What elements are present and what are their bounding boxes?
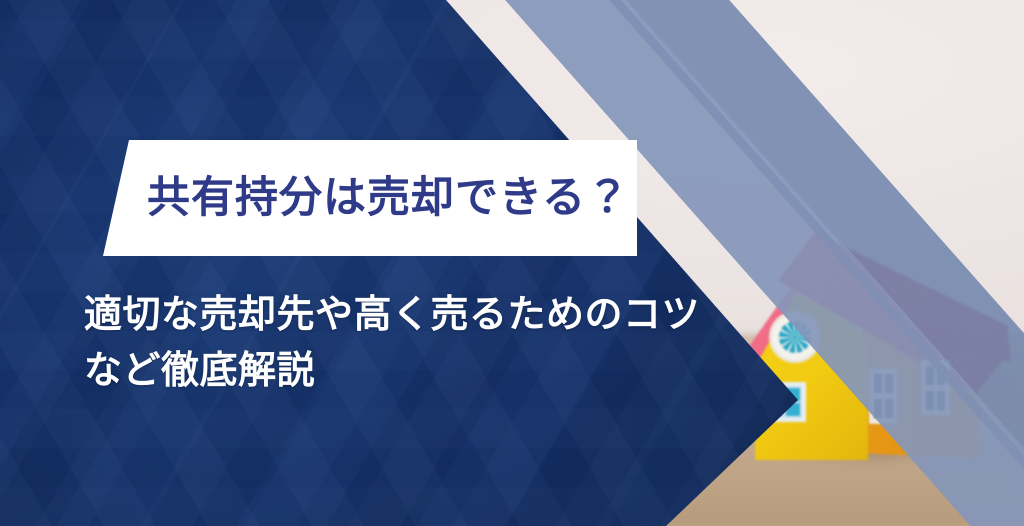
subtitle-line-1: 適切な売却先や高く売るためのコツ <box>84 286 844 342</box>
subtitle: 適切な売却先や高く売るためのコツ など徹底解説 <box>84 286 844 398</box>
title-box: 共有持分は売却できる？ <box>103 140 637 256</box>
page-title: 共有持分は売却できる？ <box>147 177 630 220</box>
hero-banner: 共有持分は売却できる？ 適切な売却先や高く売るためのコツ など徹底解説 <box>0 0 1024 526</box>
subtitle-line-2: など徹底解説 <box>84 342 844 398</box>
